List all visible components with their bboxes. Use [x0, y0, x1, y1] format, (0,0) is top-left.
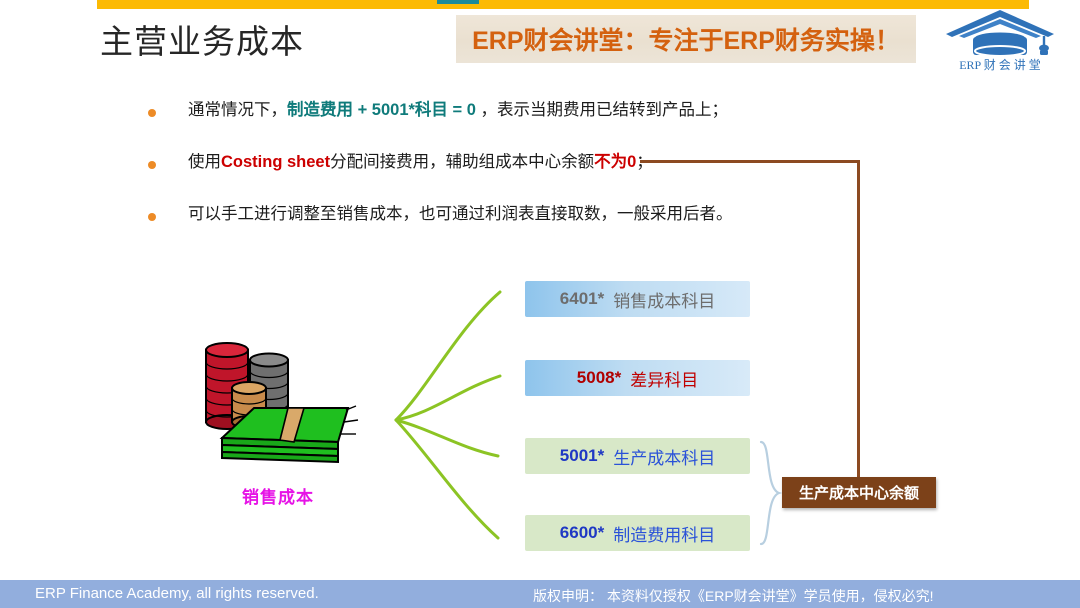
bullet-segment: 使用 [188, 153, 221, 171]
bullet-segment-highlight: 不为0 [594, 153, 636, 171]
fan-arrows-icon [388, 268, 528, 558]
account-name: 差异科目 [630, 366, 698, 391]
top-accent-bar-yellow [97, 0, 1029, 9]
promo-banner-text: ERP财会讲堂：专注于ERP财务实操！ [472, 21, 900, 57]
account-box-6600[interactable]: 6600* 制造费用科目 [525, 515, 750, 551]
account-name: 生产成本科目 [613, 444, 715, 469]
bullet-text: 使用Costing sheet分配间接费用，辅助组成本中心余额不为0； [188, 152, 653, 173]
graduation-cap-logo: ERP 财 会 讲 堂 [938, 6, 1066, 78]
footer-bar: ERP Finance Academy, all rights reserved… [0, 580, 1080, 608]
bullet-segment: 可以手工进行调整至销售成本，也可通过利润表直接取数，一般采用后者。 [188, 205, 733, 223]
account-name: 销售成本科目 [613, 287, 715, 312]
promo-banner: ERP财会讲堂：专注于ERP财务实操！ [456, 15, 916, 63]
account-code: 6600* [560, 523, 604, 543]
account-box-5008[interactable]: 5008* 差异科目 [525, 360, 750, 396]
bullet-segment-highlight: Costing sheet [221, 153, 330, 171]
connector-line-horizontal [640, 160, 860, 163]
list-item: 可以手工进行调整至销售成本，也可通过利润表直接取数，一般采用后者。 [148, 204, 848, 256]
logo-text: ERP 财 会 讲 堂 [959, 57, 1041, 72]
bullet-dot-icon [148, 213, 156, 221]
account-code: 5001* [560, 446, 604, 466]
bullet-segment-highlight: 制造费用 + 5001*科目 = 0 [287, 101, 476, 119]
bullet-dot-icon [148, 161, 156, 169]
money-coins-cash-icon [188, 330, 368, 470]
bullet-text: 可以手工进行调整至销售成本，也可通过利润表直接取数，一般采用后者。 [188, 204, 733, 225]
footer-copyright-en: ERP Finance Academy, all rights reserved… [35, 585, 319, 602]
connector-line-vertical [857, 160, 860, 480]
account-code: 5008* [577, 368, 621, 388]
top-accent-bar-teal [437, 0, 479, 4]
bullet-text: 通常情况下，制造费用 + 5001*科目 = 0 ，表示当期费用已结转到产品上； [188, 100, 728, 121]
bullet-segment: ，表示当期费用已结转到产品上； [476, 101, 728, 119]
footer-copyright-zh: 版权申明： 本资料仅授权《ERP财会讲堂》学员使用，侵权必究! [533, 586, 934, 606]
account-name: 制造费用科目 [613, 521, 715, 546]
slide-canvas: 主营业务成本 ERP财会讲堂：专注于ERP财务实操！ ERP 财 会 讲 堂 [0, 0, 1080, 608]
account-code: 6401* [560, 289, 604, 309]
bullet-dot-icon [148, 109, 156, 117]
bullet-segment: 分配间接费用，辅助组成本中心余额 [330, 153, 594, 171]
bullet-list: 通常情况下，制造费用 + 5001*科目 = 0 ，表示当期费用已结转到产品上；… [148, 100, 848, 256]
grouped-label-text: 生产成本中心余额 [799, 482, 919, 503]
account-box-6401[interactable]: 6401* 销售成本科目 [525, 281, 750, 317]
bullet-segment: 通常情况下， [188, 101, 287, 119]
grouped-label-box[interactable]: 生产成本中心余额 [782, 477, 936, 508]
page-title: 主营业务成本 [100, 22, 304, 62]
list-item: 通常情况下，制造费用 + 5001*科目 = 0 ，表示当期费用已结转到产品上； [148, 100, 848, 152]
account-box-5001[interactable]: 5001* 生产成本科目 [525, 438, 750, 474]
diagram-source-label: 销售成本 [188, 483, 368, 508]
